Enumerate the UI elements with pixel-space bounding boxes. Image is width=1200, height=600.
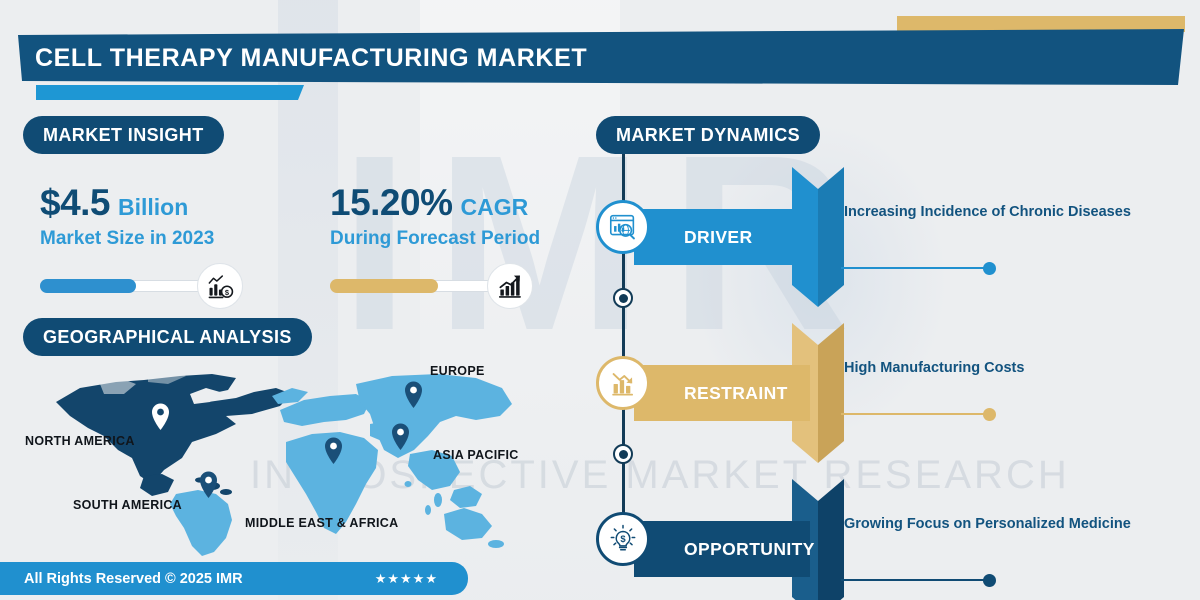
driver-label: DRIVER	[684, 227, 753, 248]
opportunity-description: Growing Focus on Personalized Medicine	[844, 512, 1174, 537]
svg-text:$: $	[225, 288, 230, 297]
title-underline-accent	[36, 85, 304, 100]
kpi-card-market-size: $4.5 Billion Market Size in 2023 $	[40, 182, 240, 309]
lightbulb-dollar-icon: $	[596, 512, 650, 566]
map-label-europe: EUROPE	[430, 364, 485, 378]
map-label-middle-east-africa: MIDDLE EAST & AFRICA	[245, 516, 398, 530]
kpi-subtitle: Market Size in 2023	[40, 228, 240, 250]
footer-bar: All Rights Reserved © 2025 IMR ★★★★★	[0, 562, 468, 595]
map-region-north-america	[56, 370, 292, 496]
kpi-value: $4.5	[40, 182, 110, 224]
kpi-unit: CAGR	[461, 194, 529, 221]
world-map: NORTH AMERICA SOUTH AMERICA MIDDLE EAST …	[40, 358, 560, 568]
section-heading-geographical-analysis: GEOGRAPHICAL ANALYSIS	[23, 318, 312, 356]
growth-arrow-chart-icon	[487, 263, 533, 309]
kpi-progress-fill	[330, 279, 438, 293]
restraint-band: RESTRAINT	[634, 365, 810, 421]
kpi-headline: $4.5 Billion	[40, 182, 240, 224]
map-label-asia-pacific: ASIA PACIFIC	[433, 448, 519, 462]
kpi-card-cagr: 15.20% CAGR During Forecast Period	[330, 182, 540, 309]
kpi-progress-fill	[40, 279, 136, 293]
section-heading-market-insight: MARKET INSIGHT	[23, 116, 224, 154]
kpi-unit: Billion	[118, 194, 188, 221]
dynamics-row-restraint: RESTRAINT High Manufacturing Costs	[596, 323, 1200, 473]
driver-endpoint-dot	[983, 262, 996, 275]
opportunity-endpoint-dot	[983, 574, 996, 587]
declining-bar-chart-icon	[596, 356, 650, 410]
page-title: CELL THERAPY MANUFACTURING MARKET	[35, 44, 587, 73]
section-heading-market-dynamics: MARKET DYNAMICS	[596, 116, 820, 154]
kpi-progress-row: $	[40, 263, 240, 309]
svg-text:$: $	[620, 533, 626, 544]
kpi-progress-row	[330, 263, 530, 309]
restraint-description: High Manufacturing Costs	[844, 356, 1174, 381]
page-title-bar: CELL THERAPY MANUFACTURING MARKET	[18, 29, 1184, 85]
restraint-label: RESTRAINT	[684, 383, 788, 404]
restraint-connector-line	[841, 413, 989, 415]
driver-connector-line	[841, 267, 989, 269]
opportunity-connector-line	[841, 579, 989, 581]
map-region-europe	[272, 388, 370, 426]
driver-description: Increasing Incidence of Chronic Diseases	[844, 200, 1174, 225]
kpi-subtitle: During Forecast Period	[330, 228, 540, 250]
bar-chart-dollar-icon: $	[197, 263, 243, 309]
opportunity-label: OPPORTUNITY	[684, 539, 815, 560]
infographic-canvas: IMR INTROSPECTIVE MARKET RESEARCH CELL T…	[0, 0, 1200, 600]
dynamics-row-driver: DRIVER Increasing Incidence	[596, 167, 1200, 317]
map-label-north-america: NORTH AMERICA	[25, 434, 135, 448]
map-label-south-america: SOUTH AMERICA	[73, 498, 182, 512]
chart-window-magnifier-icon	[596, 200, 650, 254]
dynamics-row-opportunity: OPPORTUNITY $ Growing Focus on	[596, 479, 1200, 600]
footer-copyright: All Rights Reserved © 2025 IMR	[24, 571, 243, 587]
opportunity-band: OPPORTUNITY	[634, 521, 810, 577]
footer-rating-stars: ★★★★★	[375, 571, 438, 587]
driver-band: DRIVER	[634, 209, 810, 265]
restraint-endpoint-dot	[983, 408, 996, 421]
kpi-value: 15.20%	[330, 182, 453, 224]
kpi-headline: 15.20% CAGR	[330, 182, 540, 224]
